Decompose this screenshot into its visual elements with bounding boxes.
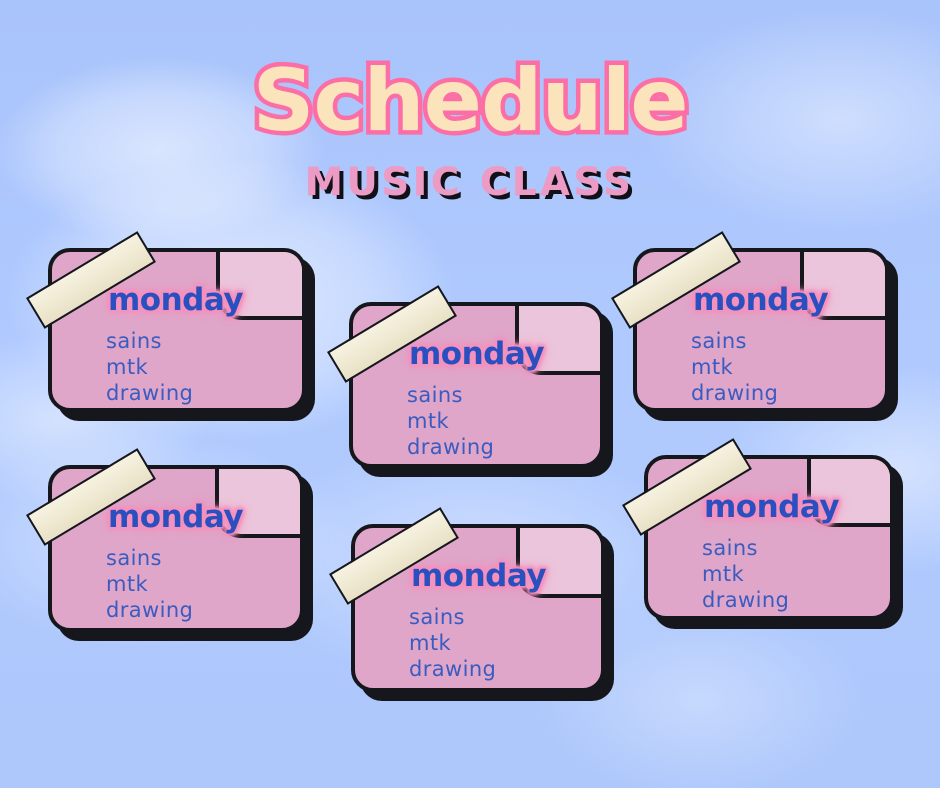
card-subject-list: sains mtk drawing [106, 545, 193, 623]
card-subject-list: sains mtk drawing [702, 535, 789, 613]
list-item: mtk [106, 354, 193, 380]
page-subtitle: MUSIC CLASS [0, 144, 940, 204]
schedule-card[interactable]: monday sains mtk drawing [48, 248, 306, 412]
list-item: sains [702, 535, 789, 561]
list-item: drawing [409, 656, 496, 682]
list-item: drawing [106, 380, 193, 406]
list-item: drawing [702, 587, 789, 613]
schedule-card[interactable]: monday sains mtk drawing [48, 465, 304, 632]
list-item: sains [691, 328, 778, 354]
list-item: mtk [691, 354, 778, 380]
card-day-label: monday [108, 499, 243, 535]
card-day-label: monday [704, 489, 839, 525]
list-item: sains [106, 328, 193, 354]
schedule-poster: Schedule MUSIC CLASS monday sains mtk dr… [0, 0, 940, 788]
card-day-label: monday [409, 336, 544, 372]
list-item: mtk [407, 408, 494, 434]
card-day-label: monday [108, 282, 243, 318]
list-item: sains [106, 545, 193, 571]
card-day-label: monday [411, 558, 546, 594]
list-item: sains [409, 604, 496, 630]
card-subject-list: sains mtk drawing [106, 328, 193, 406]
page-title: Schedule [0, 0, 940, 144]
schedule-card[interactable]: monday sains mtk drawing [349, 302, 604, 468]
card-subject-list: sains mtk drawing [407, 382, 494, 460]
card-subject-list: sains mtk drawing [691, 328, 778, 406]
list-item: drawing [407, 434, 494, 460]
list-item: sains [407, 382, 494, 408]
schedule-card[interactable]: monday sains mtk drawing [644, 455, 894, 620]
schedule-card[interactable]: monday sains mtk drawing [351, 524, 605, 692]
list-item: mtk [409, 630, 496, 656]
poster-heading: Schedule MUSIC CLASS [0, 0, 940, 204]
list-item: mtk [106, 571, 193, 597]
list-item: drawing [691, 380, 778, 406]
list-item: drawing [106, 597, 193, 623]
list-item: mtk [702, 561, 789, 587]
card-day-label: monday [693, 282, 828, 318]
schedule-card[interactable]: monday sains mtk drawing [633, 248, 889, 412]
card-subject-list: sains mtk drawing [409, 604, 496, 682]
